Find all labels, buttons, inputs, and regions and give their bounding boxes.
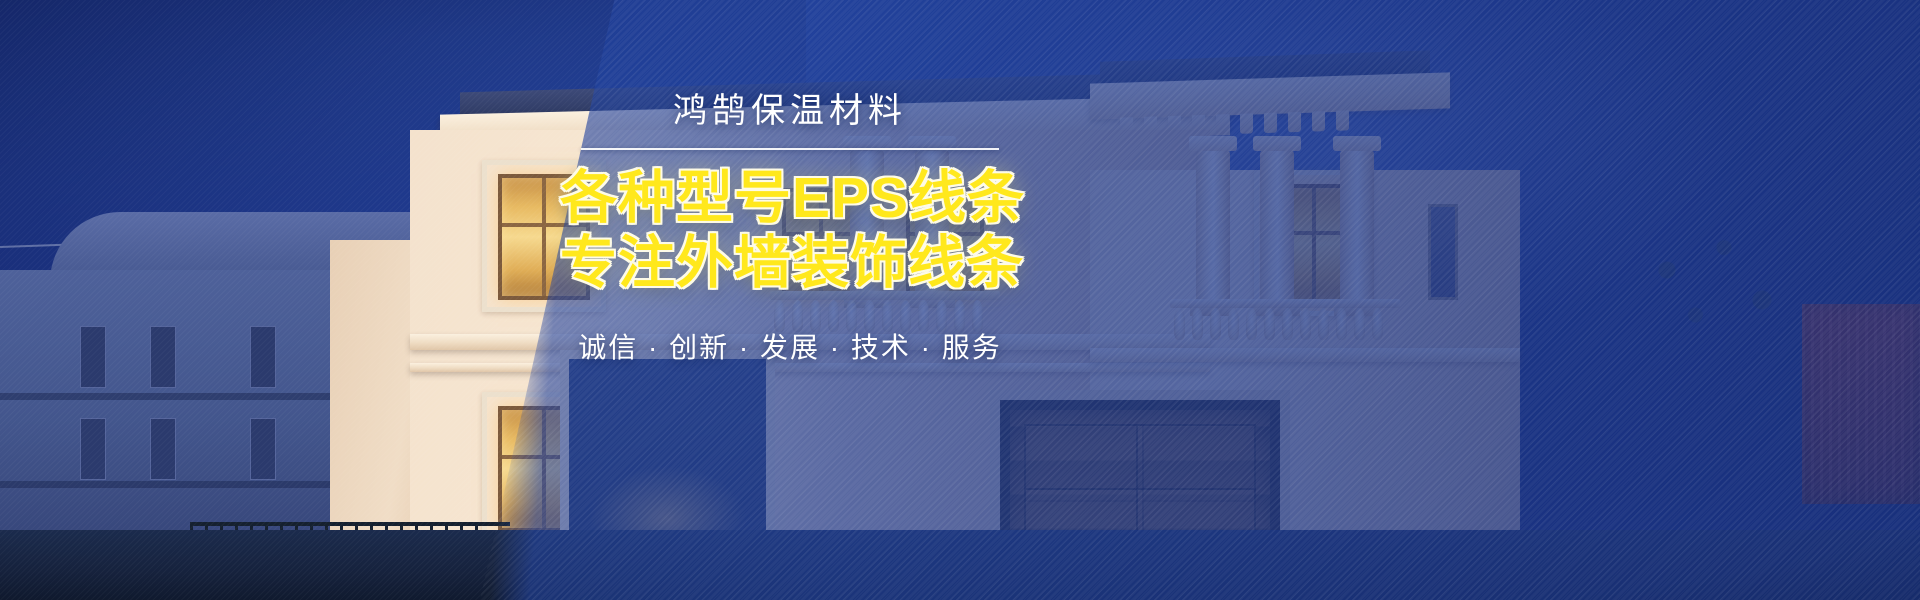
company-name: 鸿鹄保温材料	[560, 92, 1020, 131]
headline: 各种型号EPS线条 专注外墙装饰线条	[560, 166, 1020, 296]
wing-window	[250, 418, 276, 480]
wing-window	[80, 418, 106, 480]
wing-window	[80, 326, 106, 388]
promo-banner: 鸿鹄保温材料 各种型号EPS线条 专注外墙装饰线条 诚信 · 创新 · 发展 ·…	[0, 0, 1920, 600]
headline-line-1: 各种型号EPS线条	[560, 166, 1020, 231]
banner-copy: 鸿鹄保温材料 各种型号EPS线条 专注外墙装饰线条 诚信 · 创新 · 发展 ·…	[560, 92, 1020, 366]
tagline: 诚信 · 创新 · 发展 · 技术 · 服务	[560, 326, 1020, 366]
wing-window	[150, 326, 176, 388]
divider-rule	[581, 148, 999, 150]
headline-line-2: 专注外墙装饰线条	[560, 231, 1020, 296]
wing-window	[250, 326, 276, 388]
wing-window	[150, 418, 176, 480]
